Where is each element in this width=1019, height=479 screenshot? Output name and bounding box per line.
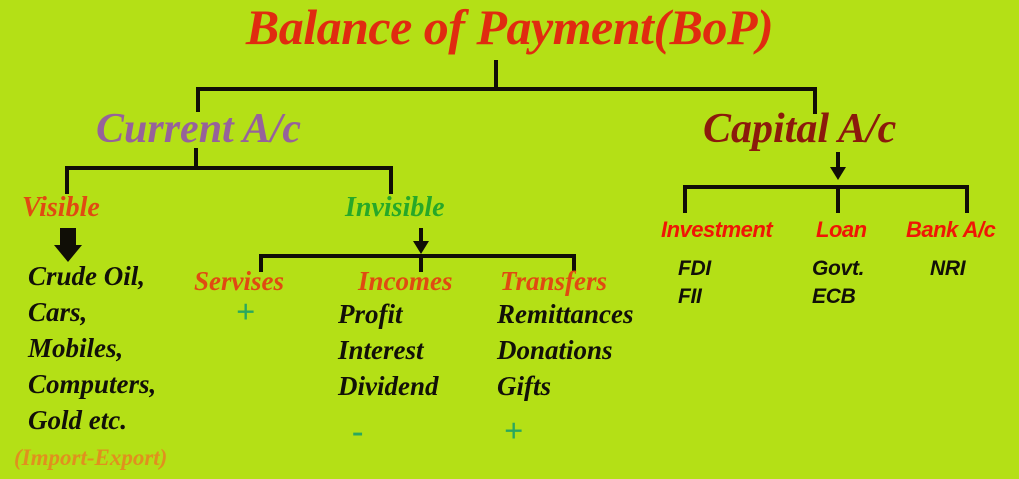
list-item: Cars, (28, 294, 156, 330)
list-item: Mobiles, (28, 330, 156, 366)
capital-down-arrow-icon (830, 167, 846, 180)
list-item: Dividend (338, 368, 439, 404)
connector-drop-investment (683, 185, 687, 213)
list-item: Crude Oil, (28, 258, 156, 294)
node-loan: Loan (816, 219, 867, 241)
connector-capital-bracket (683, 185, 969, 189)
list-visible-items: Crude Oil, Cars, Mobiles, Computers, Gol… (28, 258, 156, 438)
list-transfers-items: Remittances Donations Gifts (497, 296, 634, 404)
list-loan-items: Govt. ECB (812, 255, 864, 311)
list-item: Remittances (497, 296, 634, 332)
connector-drop-loan (836, 185, 840, 213)
node-servises: Servises (194, 268, 284, 295)
list-item: Profit (338, 296, 439, 332)
connector-current-bracket (65, 166, 393, 170)
node-bank-account: Bank A/c (906, 219, 995, 241)
node-current-account: Current A/c (96, 108, 301, 150)
node-investment: Investment (661, 219, 772, 241)
list-bank-items: NRI (930, 255, 965, 283)
list-item: ECB (812, 283, 864, 311)
sign-servises: + (236, 296, 255, 330)
connector-current-stem (194, 148, 198, 167)
connector-drop-visible (65, 166, 69, 194)
visible-footnote: (Import-Export) (14, 446, 167, 469)
list-item: FII (678, 283, 711, 311)
list-item: Govt. (812, 255, 864, 283)
connector-invisible-stem (419, 228, 423, 242)
connector-root-stem (494, 60, 498, 90)
node-transfers: Transfers (500, 268, 607, 295)
bop-diagram-canvas: Balance of Payment(BoP) Current A/c Capi… (0, 0, 1019, 479)
list-item: Gold etc. (28, 402, 156, 438)
list-item: FDI (678, 255, 711, 283)
connector-invisible-bracket (259, 254, 576, 258)
connector-top-bracket (196, 87, 817, 91)
connector-drop-bank (965, 185, 969, 213)
list-item: Interest (338, 332, 439, 368)
invisible-down-arrow-icon (413, 241, 429, 254)
sign-incomes: - (352, 415, 363, 449)
sign-transfers: + (504, 415, 523, 449)
list-investment-items: FDI FII (678, 255, 711, 311)
node-visible: Visible (22, 194, 100, 222)
list-item: NRI (930, 255, 965, 283)
list-item: Gifts (497, 368, 634, 404)
list-incomes-items: Profit Interest Dividend (338, 296, 439, 404)
connector-drop-invisible (389, 166, 393, 194)
diagram-title: Balance of Payment(BoP) (0, 2, 1019, 52)
list-item: Donations (497, 332, 634, 368)
connector-capital-stem (836, 152, 840, 168)
node-incomes: Incomes (358, 268, 453, 295)
node-invisible: Invisible (345, 194, 445, 222)
node-capital-account: Capital A/c (703, 108, 896, 150)
list-item: Computers, (28, 366, 156, 402)
